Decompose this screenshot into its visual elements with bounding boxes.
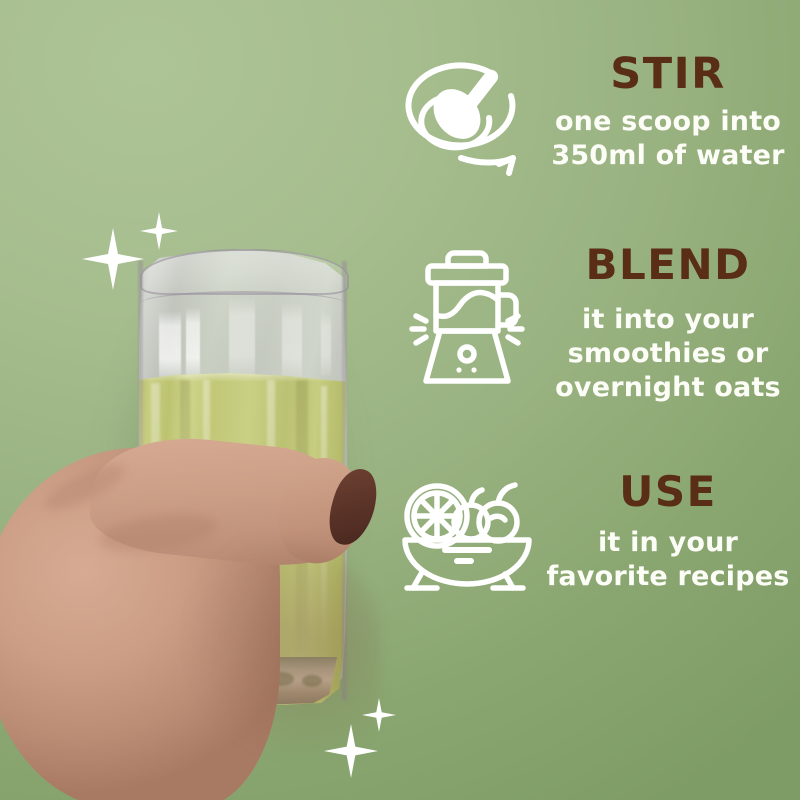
glass-facet-highlight [159,311,181,380]
instruction-steps: STIR one scoop into 350ml of water [392,0,800,800]
step-title: STIR [542,52,794,97]
step-body: it into your smoothies or overnight oats [542,303,794,404]
step-use-text: USE it in your favorite recipes [542,470,800,594]
step-blend: BLEND it into your smoothies or overnigh… [392,243,800,404]
infographic-canvas: STIR one scoop into 350ml of water [0,0,800,800]
glass-facet-highlight [282,302,302,380]
step-title: USE [542,470,794,514]
glass-facet-highlight [229,297,255,379]
step-body: one scoop into 350ml of water [542,105,794,173]
step-stir-text: STIR one scoop into 350ml of water [542,52,800,173]
glass-facet-highlight [186,307,200,380]
step-blend-text: BLEND it into your smoothies or overnigh… [542,243,800,404]
step-body-line: it in your [542,526,794,560]
step-stir: STIR one scoop into 350ml of water [392,52,800,184]
step-use: USE it in your favorite recipes [392,470,800,594]
step-body-line: one scoop into [542,105,794,139]
step-body: it in your favorite recipes [542,526,794,594]
blender-icon [392,243,542,393]
spoon-stir-icon [392,52,542,184]
hand [0,420,400,800]
step-body-line: overnight oats [542,371,794,405]
step-body-line: favorite recipes [542,560,794,594]
sparkle-top-small [140,212,178,250]
glass-facet-highlight [321,311,331,375]
product-photo [0,0,400,800]
fruit-bowl-icon [392,470,542,594]
step-body-line: 350ml of water [542,139,794,173]
step-title: BLEND [542,243,794,287]
step-body-line: smoothies or [542,337,794,371]
step-body-line: it into your [542,303,794,337]
glass-rim [140,249,350,294]
